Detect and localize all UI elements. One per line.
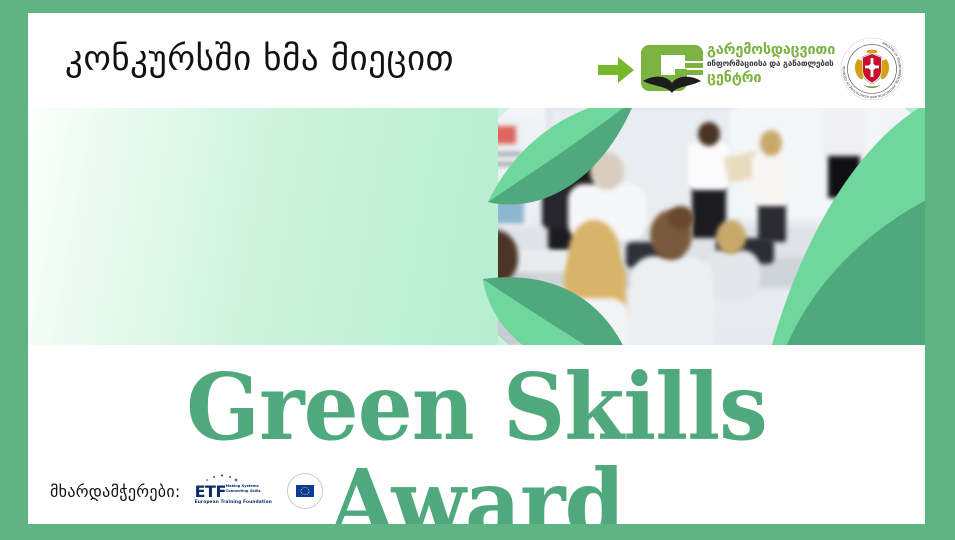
banner-gradient bbox=[28, 108, 498, 345]
eu-flag-icon bbox=[296, 485, 314, 497]
banner-band bbox=[28, 108, 925, 345]
header-band: კონკურსში ხმა მიეცით გარემოსდაცვითი ინფო… bbox=[28, 13, 925, 108]
org-logo-text: გარემოსდაცვითი ინფორმაციისა და განათლები… bbox=[707, 43, 831, 86]
etf-tagline: Making Systems Connecting Skills bbox=[226, 484, 272, 493]
org-logo-line2: ინფორმაციისა და განათლების bbox=[707, 58, 831, 70]
leaf-icon-bottom-left bbox=[453, 273, 638, 345]
footer-supporters: მხარდამჭერები: ETF Making Systems Connec… bbox=[50, 473, 323, 509]
open-book-logo-icon bbox=[641, 41, 703, 97]
poster-card: კონკურსში ხმა მიეცით გარემოსდაცვითი ინფო… bbox=[28, 13, 925, 524]
title-band: Green Skills Award მხარდამჭერები: ETF Ma… bbox=[28, 345, 925, 524]
org-logo-line1: გარემოსდაცვითი bbox=[707, 43, 831, 58]
leaf-icon-right-edge bbox=[848, 204, 925, 345]
arrow-right-icon bbox=[598, 57, 634, 83]
etf-logo: ETF Making Systems Connecting Skills Eur… bbox=[195, 474, 273, 508]
european-union-flag bbox=[287, 473, 323, 509]
poster-root: კონკურსში ხმა მიეცით გარემოსდაცვითი ინფო… bbox=[0, 0, 955, 540]
georgia-ministry-seal-icon: MINISTRY OF ENVIRONMENTAL PROTECTION AND… bbox=[840, 37, 904, 101]
etf-wordmark: ETF bbox=[195, 482, 226, 501]
etf-tagline-line2: Connecting Skills bbox=[226, 489, 272, 494]
leaf-icon-top-left bbox=[468, 108, 638, 228]
supporters-label: მხარდამჭერები: bbox=[50, 482, 181, 501]
etf-caption: European Training Foundation bbox=[195, 500, 272, 505]
org-logo-line3: ცენტრი bbox=[707, 70, 831, 86]
org-logo: გარემოსდაცვითი ინფორმაციისა და განათლები… bbox=[641, 41, 831, 99]
page-title: კონკურსში ხმა მიეცით bbox=[65, 37, 454, 81]
